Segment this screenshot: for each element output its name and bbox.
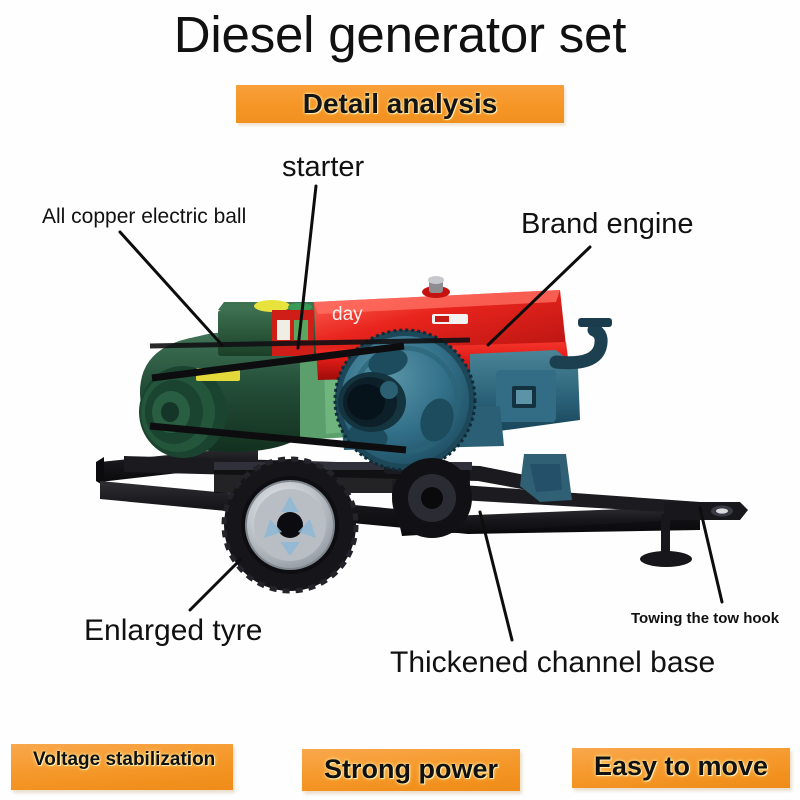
leader-line-copper-ball bbox=[120, 232, 222, 345]
feature-badge-power-label: Strong power bbox=[302, 754, 520, 784]
callout-leader-lines bbox=[0, 0, 800, 800]
infographic-canvas: Diesel generator set Detail analysis bbox=[0, 0, 800, 800]
feature-badge-move: Easy to move bbox=[572, 748, 790, 788]
callout-label-enlarged-tyre: Enlarged tyre bbox=[84, 614, 262, 648]
feature-badge-move-label: Easy to move bbox=[572, 751, 790, 781]
callout-label-copper-ball: All copper electric ball bbox=[42, 205, 246, 229]
leader-line-channel-base bbox=[480, 512, 512, 640]
leader-line-tow-hook bbox=[700, 508, 722, 602]
leader-line-brand-engine bbox=[488, 247, 590, 345]
callout-label-starter: starter bbox=[282, 151, 364, 183]
feature-badge-voltage-label: Voltage stabilization bbox=[33, 749, 223, 770]
leader-line-enlarged-tyre bbox=[190, 560, 240, 610]
feature-badge-voltage: Voltage stabilization bbox=[11, 744, 233, 790]
feature-badge-power: Strong power bbox=[302, 749, 520, 791]
callout-label-tow-hook: Towing the tow hook bbox=[631, 610, 779, 628]
leader-line-starter bbox=[298, 186, 316, 348]
callout-label-brand-engine: Brand engine bbox=[521, 208, 694, 240]
callout-label-channel-base: Thickened channel base bbox=[390, 646, 715, 680]
